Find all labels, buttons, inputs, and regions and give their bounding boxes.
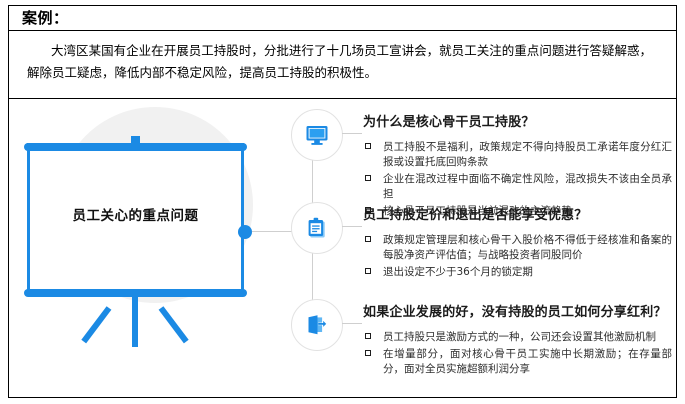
list-item: 员工持股只是激励方式的一种，公司还会设置其他激励机制 <box>363 330 672 345</box>
square-bullet-icon <box>365 268 371 274</box>
list-item: 在增量部分，面对核心骨干员工实施中长期激励；在存量部分，面对全员实施超额利润分享 <box>363 347 672 377</box>
list-item: 员工持股不是福利，政策规定不得向持股员工承诺年度分红汇报或设置托底回购条款 <box>363 140 672 170</box>
projector-illustration: 员工关心的重点问题 <box>9 99 294 399</box>
card-header: 案例： <box>9 6 676 31</box>
connector-node-dot <box>238 225 252 239</box>
bullet-text: 退出设定不少于36个月的锁定期 <box>383 265 672 280</box>
bullet-list-2: 政策规定管理层和核心骨干入股价格不得低于经核准和备案的每股净资产评估值；与战略投… <box>363 233 672 280</box>
question-sections: 为什么是核心骨干员工持股？ 员工持股不是福利，政策规定不得向持股员工承诺年度分红… <box>287 99 676 397</box>
case-card: 案例： 大湾区某国有企业在开展员工持股时，分批进行了十几场员工宣讲会，就员工关注… <box>8 5 677 398</box>
question-body-3: 如果企业发展的好，没有持股的员工如何分享红利？ 员工持股只是激励方式的一种，公司… <box>363 295 672 379</box>
question-title-3: 如果企业发展的好，没有持股的员工如何分享红利？ <box>363 295 672 323</box>
exit-arrow-icon <box>291 299 343 351</box>
square-bullet-icon <box>365 175 371 181</box>
list-item: 退出设定不少于36个月的锁定期 <box>363 265 672 280</box>
monitor-icon <box>291 109 343 161</box>
clipboard-icon <box>291 202 343 254</box>
tripod-right-leg-icon <box>159 306 189 343</box>
bullet-text: 政策规定管理层和核心骨干入股价格不得低于经核准和备案的每股净资产评估值；与战略投… <box>383 233 672 263</box>
projector-label: 员工关心的重点问题 <box>27 204 244 224</box>
question-title-1: 为什么是核心骨干员工持股？ <box>363 105 672 133</box>
bullet-text: 员工持股不是福利，政策规定不得向持股员工承诺年度分红汇报或设置托底回购条款 <box>383 140 672 170</box>
square-bullet-icon <box>365 143 371 149</box>
bullet-text: 在增量部分，面对核心骨干员工实施中长期激励；在存量部分，面对全员实施超额利润分享 <box>383 347 672 377</box>
square-bullet-icon <box>365 350 371 356</box>
list-item: 政策规定管理层和核心骨干入股价格不得低于经核准和备案的每股净资产评估值；与战略投… <box>363 233 672 263</box>
projector-top-bar-icon <box>24 143 247 151</box>
bullet-list-3: 员工持股只是激励方式的一种，公司还会设置其他激励机制 在增量部分，面对核心骨干员… <box>363 330 672 377</box>
question-title-2: 员工持股定价和退出是否能享受优惠？ <box>363 198 672 226</box>
tripod-left-leg-icon <box>81 306 111 343</box>
intro-section: 大湾区某国有企业在开展员工持股时，分批进行了十几场员工宣讲会，就员工关注的重点问… <box>9 31 676 99</box>
intro-paragraph: 大湾区某国有企业在开展员工持股时，分批进行了十几场员工宣讲会，就员工关注的重点问… <box>9 31 676 84</box>
square-bullet-icon <box>365 333 371 339</box>
connector-stub-1 <box>342 133 362 134</box>
tripod-stem-icon <box>132 295 138 347</box>
square-bullet-icon <box>365 236 371 242</box>
case-study-infographic: 案例： 大湾区某国有企业在开展员工持股时，分批进行了十几场员工宣讲会，就员工关注… <box>0 0 685 404</box>
question-body-2: 员工持股定价和退出是否能享受优惠？ 政策规定管理层和核心骨干入股价格不得低于经核… <box>363 198 672 282</box>
diagram-body: 员工关心的重点问题 <box>9 99 676 397</box>
page-title: 案例： <box>9 11 69 26</box>
connector-stub-3 <box>342 323 362 324</box>
bullet-text: 员工持股只是激励方式的一种，公司还会设置其他激励机制 <box>383 330 672 345</box>
connector-stub-2 <box>342 226 362 227</box>
